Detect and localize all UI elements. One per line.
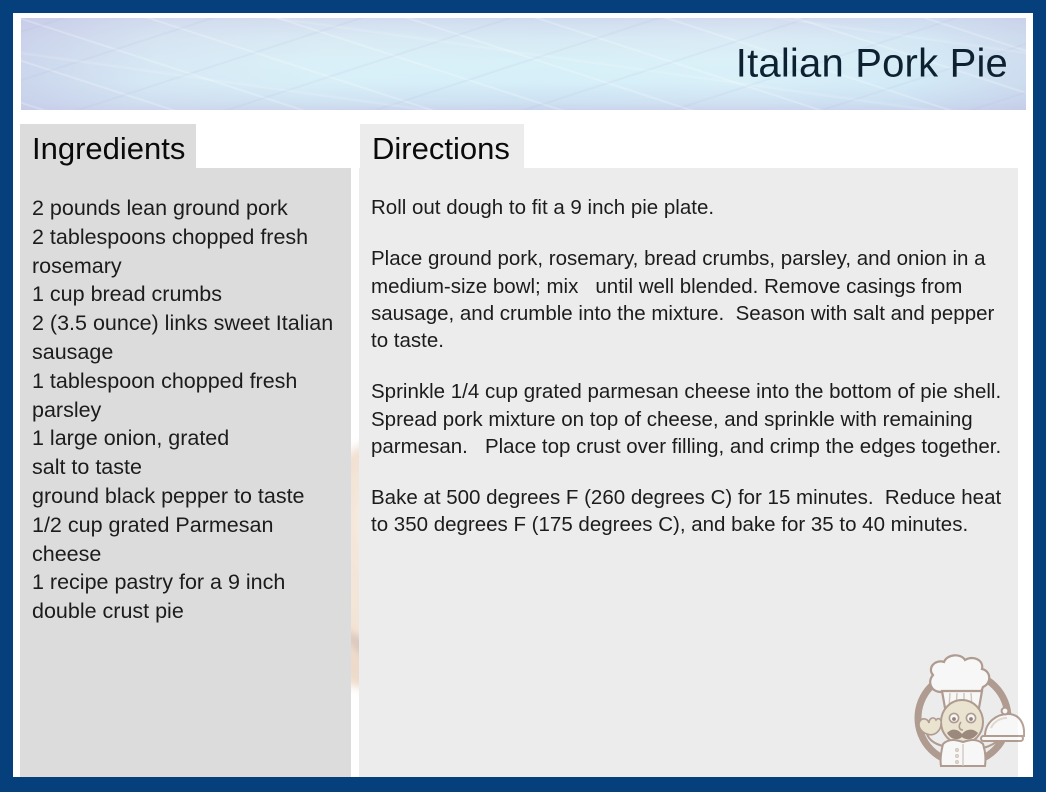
directions-content: Roll out dough to fit a 9 inch pie plate…	[371, 194, 1004, 539]
recipe-card: Italian Pork Pie	[0, 0, 1046, 792]
direction-step: Bake at 500 degrees F (260 degrees C) fo…	[371, 484, 1004, 539]
ingredient-item: salt to taste	[32, 453, 337, 482]
direction-step-list: Roll out dough to fit a 9 inch pie plate…	[371, 194, 1004, 539]
ingredient-item: 1/2 cup grated Parmesan cheese	[32, 511, 337, 569]
ingredient-item: 2 tablespoons chopped fresh rosemary	[32, 223, 337, 281]
ingredient-item: 1 cup bread crumbs	[32, 280, 337, 309]
direction-step: Place ground pork, rosemary, bread crumb…	[371, 245, 1004, 354]
ingredient-item: 2 pounds lean ground pork	[32, 194, 337, 223]
ingredient-item: 1 large onion, grated	[32, 424, 337, 453]
ingredients-content: 2 pounds lean ground pork2 tablespoons c…	[32, 194, 337, 626]
directions-heading: Directions	[372, 133, 510, 164]
ingredient-item: ground black pepper to taste	[32, 482, 337, 511]
directions-heading-tab: Directions	[360, 124, 524, 172]
ingredient-list: 2 pounds lean ground pork2 tablespoons c…	[32, 194, 337, 626]
header-banner: Italian Pork Pie	[21, 18, 1026, 110]
ingredient-item: 2 (3.5 ounce) links sweet Italian sausag…	[32, 309, 337, 367]
border-top	[0, 0, 1046, 13]
ingredient-item: 1 tablespoon chopped fresh parsley	[32, 367, 337, 425]
border-right	[1033, 0, 1046, 792]
directions-panel: Roll out dough to fit a 9 inch pie plate…	[359, 168, 1018, 777]
direction-step: Roll out dough to fit a 9 inch pie plate…	[371, 194, 1004, 221]
border-bottom	[0, 777, 1046, 792]
ingredients-panel: 2 pounds lean ground pork2 tablespoons c…	[20, 168, 351, 777]
border-left	[0, 0, 13, 792]
direction-step: Sprinkle 1/4 cup grated parmesan cheese …	[371, 378, 1004, 460]
ingredients-heading-tab: Ingredients	[20, 124, 196, 172]
ingredient-item: 1 recipe pastry for a 9 inch double crus…	[32, 568, 337, 626]
ingredients-heading: Ingredients	[32, 133, 185, 164]
page-title: Italian Pork Pie	[736, 42, 1008, 87]
